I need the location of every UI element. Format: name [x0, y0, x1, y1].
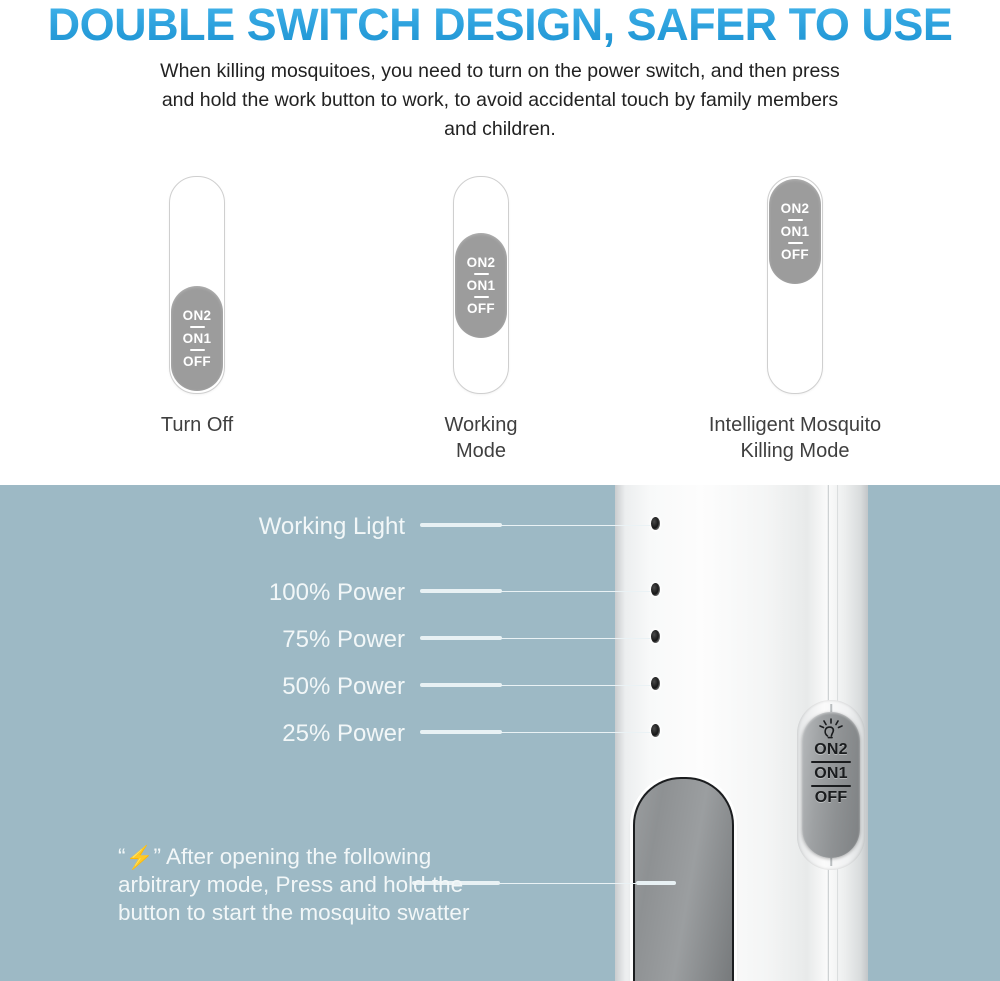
product-switch-divider [811, 761, 851, 763]
page-title: DOUBLE SWITCH DESIGN, SAFER TO USE [0, 0, 1000, 50]
leader-line-thin [500, 685, 650, 687]
switch-track: ON2 ON1 OFF [767, 176, 823, 394]
quote-close: ” [154, 844, 162, 869]
switch-knob-label-off: OFF [183, 354, 211, 369]
trigger-instruction-text: After opening the following arbitrary mo… [118, 844, 469, 925]
leader-line-thick [420, 730, 502, 734]
product-slide-switch-knob[interactable]: ON2 ON1 OFF [802, 712, 860, 858]
led-indicator-75-power [651, 630, 660, 643]
led-indicator-25-power [651, 724, 660, 737]
knob-divider-dash [190, 349, 205, 351]
knob-divider-dash [190, 326, 205, 328]
leader-line-thin [500, 638, 650, 640]
knob-divider-dash [474, 296, 489, 298]
switch-knob[interactable]: ON2 ON1 OFF [455, 233, 507, 338]
leader-line-thick-trigger-end [636, 881, 676, 885]
callout-label-50-power: 50% Power [282, 673, 405, 701]
product-slide-switch-housing: ON2 ON1 OFF [797, 700, 865, 870]
switch-diagram-turn-off: ON2 ON1 OFF Turn Off [137, 176, 257, 438]
led-indicator-100-power [651, 583, 660, 596]
product-infographic: DOUBLE SWITCH DESIGN, SAFER TO USE When … [0, 0, 1000, 981]
product-handle: ON2 ON1 OFF [615, 485, 868, 981]
lightning-bolt-icon: ⚡ [126, 844, 154, 872]
switch-knob-label-on2: ON2 [467, 255, 496, 270]
switch-diagram-working-mode: ON2 ON1 OFF Working Mode [421, 176, 541, 464]
switch-knob[interactable]: ON2 ON1 OFF [769, 179, 821, 284]
leader-line-thick [420, 636, 502, 640]
leader-line-thin [500, 732, 650, 734]
switch-knob-label-on1: ON1 [781, 224, 810, 239]
leader-line-thin [500, 525, 650, 527]
callout-label-working-light: Working Light [259, 513, 405, 541]
switch-track: ON2 ON1 OFF [169, 176, 225, 394]
leader-line-thin [500, 591, 650, 593]
switch-knob-label-on2: ON2 [781, 201, 810, 216]
knob-divider-dash [788, 242, 803, 244]
leader-line-thick [420, 589, 502, 593]
knob-divider-dash [788, 219, 803, 221]
callout-label-25-power: 25% Power [282, 720, 405, 748]
switch-caption: Intelligent Mosquito Killing Mode [680, 412, 910, 464]
switch-knob-label-off: OFF [467, 301, 495, 316]
switch-knob-label-off: OFF [781, 247, 809, 262]
product-switch-divider [811, 785, 851, 787]
switch-knob-label-on1: ON1 [183, 331, 212, 346]
light-bulb-icon [818, 718, 844, 740]
top-white-section: DOUBLE SWITCH DESIGN, SAFER TO USE When … [0, 0, 1000, 485]
trigger-instruction-note: “⚡” After opening the following arbitrar… [118, 843, 508, 927]
switch-caption: Working Mode [421, 412, 541, 464]
callout-label-75-power: 75% Power [282, 626, 405, 654]
switch-diagram-intelligent-mode: ON2 ON1 OFF Intelligent Mosquito Killing… [700, 176, 890, 464]
leader-line-thick [420, 523, 502, 527]
callout-label-100-power: 100% Power [269, 579, 405, 607]
led-indicator-50-power [651, 677, 660, 690]
switch-knob[interactable]: ON2 ON1 OFF [171, 286, 223, 391]
switch-track: ON2 ON1 OFF [453, 176, 509, 394]
switch-knob-label-on1: ON1 [467, 278, 496, 293]
switch-knob-label-on2: ON2 [183, 308, 212, 323]
quote-open: “ [118, 844, 126, 869]
product-switch-label-on2: ON2 [814, 741, 848, 758]
leader-line-thin-trigger [496, 883, 636, 885]
led-indicator-working-light [651, 517, 660, 530]
leader-line-thick [420, 683, 502, 687]
product-switch-label-off: OFF [815, 789, 848, 806]
page-subtitle: When killing mosquitoes, you need to tur… [150, 57, 850, 144]
work-trigger-button[interactable] [633, 777, 734, 981]
switch-caption: Turn Off [137, 412, 257, 438]
knob-divider-dash [474, 273, 489, 275]
product-switch-label-on1: ON1 [814, 765, 848, 782]
